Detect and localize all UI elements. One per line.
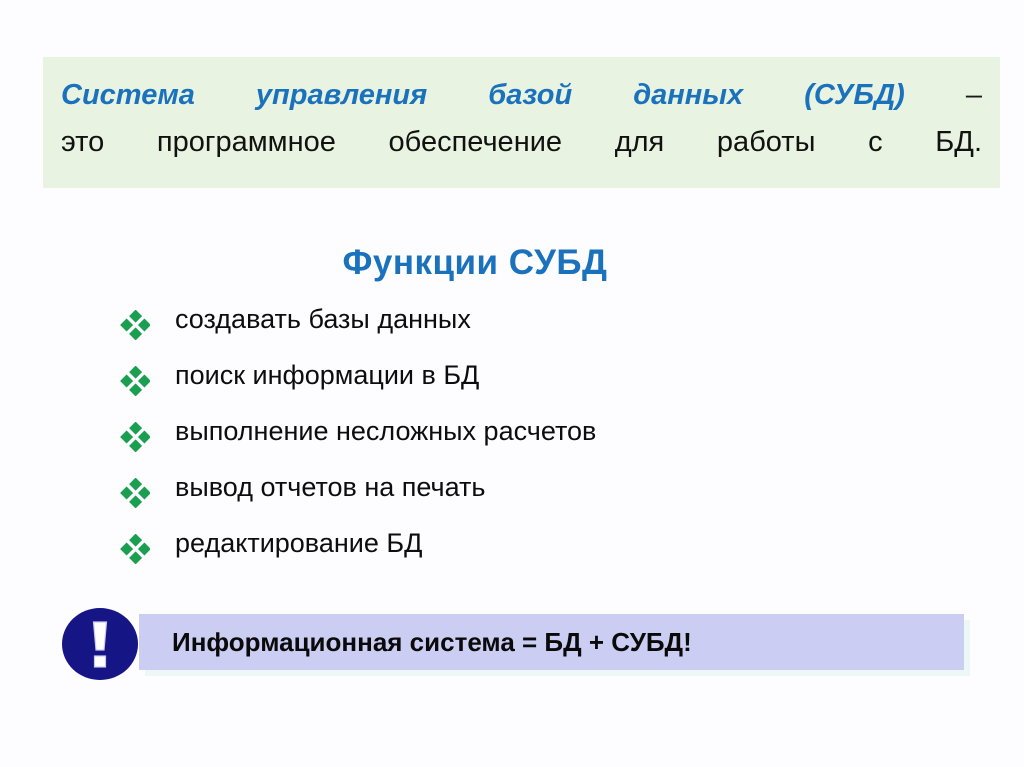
exclamation-mark-icon bbox=[62, 608, 138, 680]
list-item-label: создавать базы данных bbox=[175, 303, 471, 336]
list-item: создавать базы данных bbox=[120, 303, 900, 359]
slide-canvas: Система управления базой данных (СУБД) –… bbox=[0, 0, 1024, 767]
list-item-label: выполнение несложных расчетов bbox=[175, 415, 596, 448]
green-diamond-cluster-icon bbox=[120, 310, 150, 340]
list-item: вывод отчетов на печать bbox=[120, 471, 900, 527]
green-diamond-cluster-icon bbox=[120, 366, 150, 396]
green-diamond-cluster-icon bbox=[120, 422, 150, 452]
functions-list: создавать базы данных поиск информации в… bbox=[120, 303, 900, 583]
green-diamond-cluster-icon bbox=[120, 534, 150, 564]
definition-dash: – bbox=[905, 79, 982, 111]
callout-text: Информационная система = БД + СУБД! bbox=[172, 627, 692, 658]
green-diamond-cluster-icon bbox=[120, 478, 150, 508]
list-item: выполнение несложных расчетов bbox=[120, 415, 900, 471]
definition-term-line: Система управления базой данных (СУБД) – bbox=[61, 73, 982, 118]
list-item-label: вывод отчетов на печать bbox=[175, 471, 485, 504]
definition-term: Система управления базой данных (СУБД) bbox=[61, 79, 905, 111]
callout-banner: Информационная система = БД + СУБД! bbox=[139, 614, 964, 670]
list-item-label: редактирование БД bbox=[175, 527, 422, 560]
list-item: поиск информации в БД bbox=[120, 359, 900, 415]
list-item-label: поиск информации в БД bbox=[175, 359, 479, 392]
list-item: редактирование БД bbox=[120, 527, 900, 583]
callout: Информационная система = БД + СУБД! bbox=[139, 614, 964, 670]
section-title: Функции СУБД bbox=[0, 243, 950, 283]
definition-body: это программное обеспечение для работы с… bbox=[61, 120, 982, 165]
definition-box: Система управления базой данных (СУБД) –… bbox=[43, 57, 1000, 188]
